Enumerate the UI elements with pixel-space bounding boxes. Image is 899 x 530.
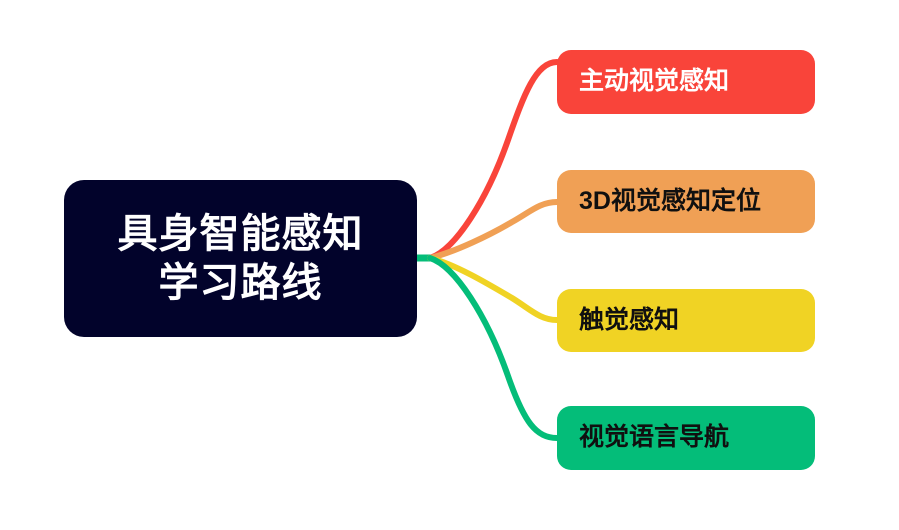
mindmap-canvas: 具身智能感知 学习路线 主动视觉感知 3D视觉感知定位 触觉感知 视觉语言导航 <box>0 0 899 530</box>
root-node[interactable]: 具身智能感知 学习路线 <box>64 180 417 337</box>
branch-label: 触觉感知 <box>579 307 679 335</box>
connector-branch-1 <box>430 202 557 258</box>
connector-branch-3 <box>430 258 557 438</box>
branch-node-tactile-perception[interactable]: 触觉感知 <box>557 289 815 352</box>
branch-label: 视觉语言导航 <box>579 424 729 452</box>
branch-label: 3D视觉感知定位 <box>579 188 761 216</box>
root-node-line-1: 具身智能感知 <box>118 210 364 259</box>
branch-node-3d-visual-perception-localization[interactable]: 3D视觉感知定位 <box>557 170 815 233</box>
branch-label: 主动视觉感知 <box>579 68 729 96</box>
branch-node-active-visual-perception[interactable]: 主动视觉感知 <box>557 50 815 114</box>
connector-branch-2 <box>430 258 557 320</box>
root-node-line-2: 学习路线 <box>159 259 323 308</box>
branch-node-vision-language-navigation[interactable]: 视觉语言导航 <box>557 406 815 470</box>
connector-branch-0 <box>430 62 557 258</box>
